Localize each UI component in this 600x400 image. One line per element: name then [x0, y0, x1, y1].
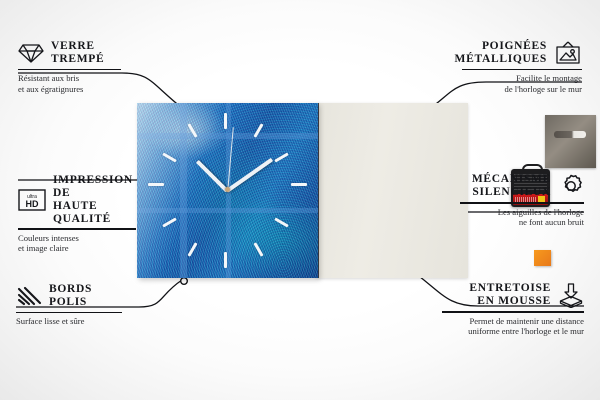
hour-marker	[291, 183, 307, 186]
callout-title-line2: SILENCIEUX	[472, 186, 551, 199]
hour-marker	[224, 252, 227, 268]
clock-back-panel	[316, 103, 468, 278]
product-photo	[137, 103, 468, 278]
callout-desc-line2: et aux égratignures	[18, 84, 138, 94]
callout-title-line1: POIGNÉES	[455, 40, 547, 53]
callout-desc-line2: de l'horloge sur le mur	[462, 84, 582, 94]
callout-bords-polis[interactable]: BORDS POLIS Surface lisse et sûre	[16, 283, 141, 327]
callout-title-line2: POLIS	[49, 296, 92, 309]
callout-verre-trempe[interactable]: VERRE TREMPÉ Résistant aux bris et aux é…	[18, 40, 138, 94]
callout-desc-line1: Surface lisse et sûre	[16, 316, 141, 326]
callout-title-line1: MÉCANISME	[472, 173, 551, 186]
callout-rule	[16, 312, 122, 314]
callout-title-line1: VERRE	[51, 40, 104, 53]
hour-marker	[224, 113, 227, 129]
callout-title-line2: HAUTE QUALITÉ	[53, 200, 148, 225]
diamond-icon	[18, 42, 44, 64]
gear-icon	[558, 173, 584, 199]
ultra-hd-badge-icon: ultra HD	[18, 189, 46, 211]
callout-desc-line1: Permet de maintenir une distance	[442, 316, 584, 326]
polished-edges-icon	[16, 285, 42, 307]
svg-text:HD: HD	[26, 199, 39, 209]
infographic-stage: VERRE TREMPÉ Résistant aux bris et aux é…	[0, 0, 600, 400]
callout-rule	[18, 228, 136, 230]
hands-hub	[225, 187, 230, 192]
leader-dot-bords-polis	[181, 278, 188, 285]
clock-face	[137, 103, 318, 278]
callout-title-line1: IMPRESSION DE	[53, 174, 148, 200]
callout-title-line2: TREMPÉ	[51, 53, 104, 66]
callout-title-line1: BORDS	[49, 283, 92, 296]
callout-desc-line2: ne font aucun bruit	[460, 217, 584, 227]
callout-desc-line1: Résistant aux bris	[18, 73, 138, 83]
callout-rule	[462, 69, 582, 71]
callout-desc-line1: Les aiguilles de l'horloge	[460, 207, 584, 217]
metal-hanger-plate	[545, 115, 596, 168]
callout-poignees-metalliques[interactable]: POIGNÉES MÉTALLIQUES Facilite le montage…	[462, 40, 582, 94]
orange-foam-spacer	[534, 250, 551, 266]
callout-desc-line1: Facilite le montage	[462, 73, 582, 83]
callout-title-line1: ENTRETOISE	[469, 282, 551, 295]
foam-spacer-arrow-icon	[558, 282, 584, 308]
callout-desc-line1: Couleurs intenses	[18, 233, 148, 243]
callout-rule	[460, 202, 584, 204]
callout-entretoise-en-mousse[interactable]: ENTRETOISE EN MOUSSE Permet de maintenir…	[442, 282, 584, 336]
callout-desc-line2: et image claire	[18, 243, 148, 253]
hanger-slot	[554, 131, 586, 138]
callout-mecanisme-silencieux[interactable]: MÉCANISME SILENCIEUX Les aiguilles de l'…	[460, 173, 584, 227]
hanging-frame-icon	[554, 41, 582, 65]
callout-title-line2: EN MOUSSE	[469, 295, 551, 308]
callout-rule	[442, 311, 584, 313]
callout-impression-haute-qualite[interactable]: ultra HD IMPRESSION DE HAUTE QUALITÉ Cou…	[18, 174, 148, 253]
callout-title-line2: MÉTALLIQUES	[455, 53, 547, 66]
hour-marker	[148, 183, 164, 186]
callout-rule	[18, 69, 121, 71]
callout-desc-line2: uniforme entre l'horloge et le mur	[442, 326, 584, 336]
